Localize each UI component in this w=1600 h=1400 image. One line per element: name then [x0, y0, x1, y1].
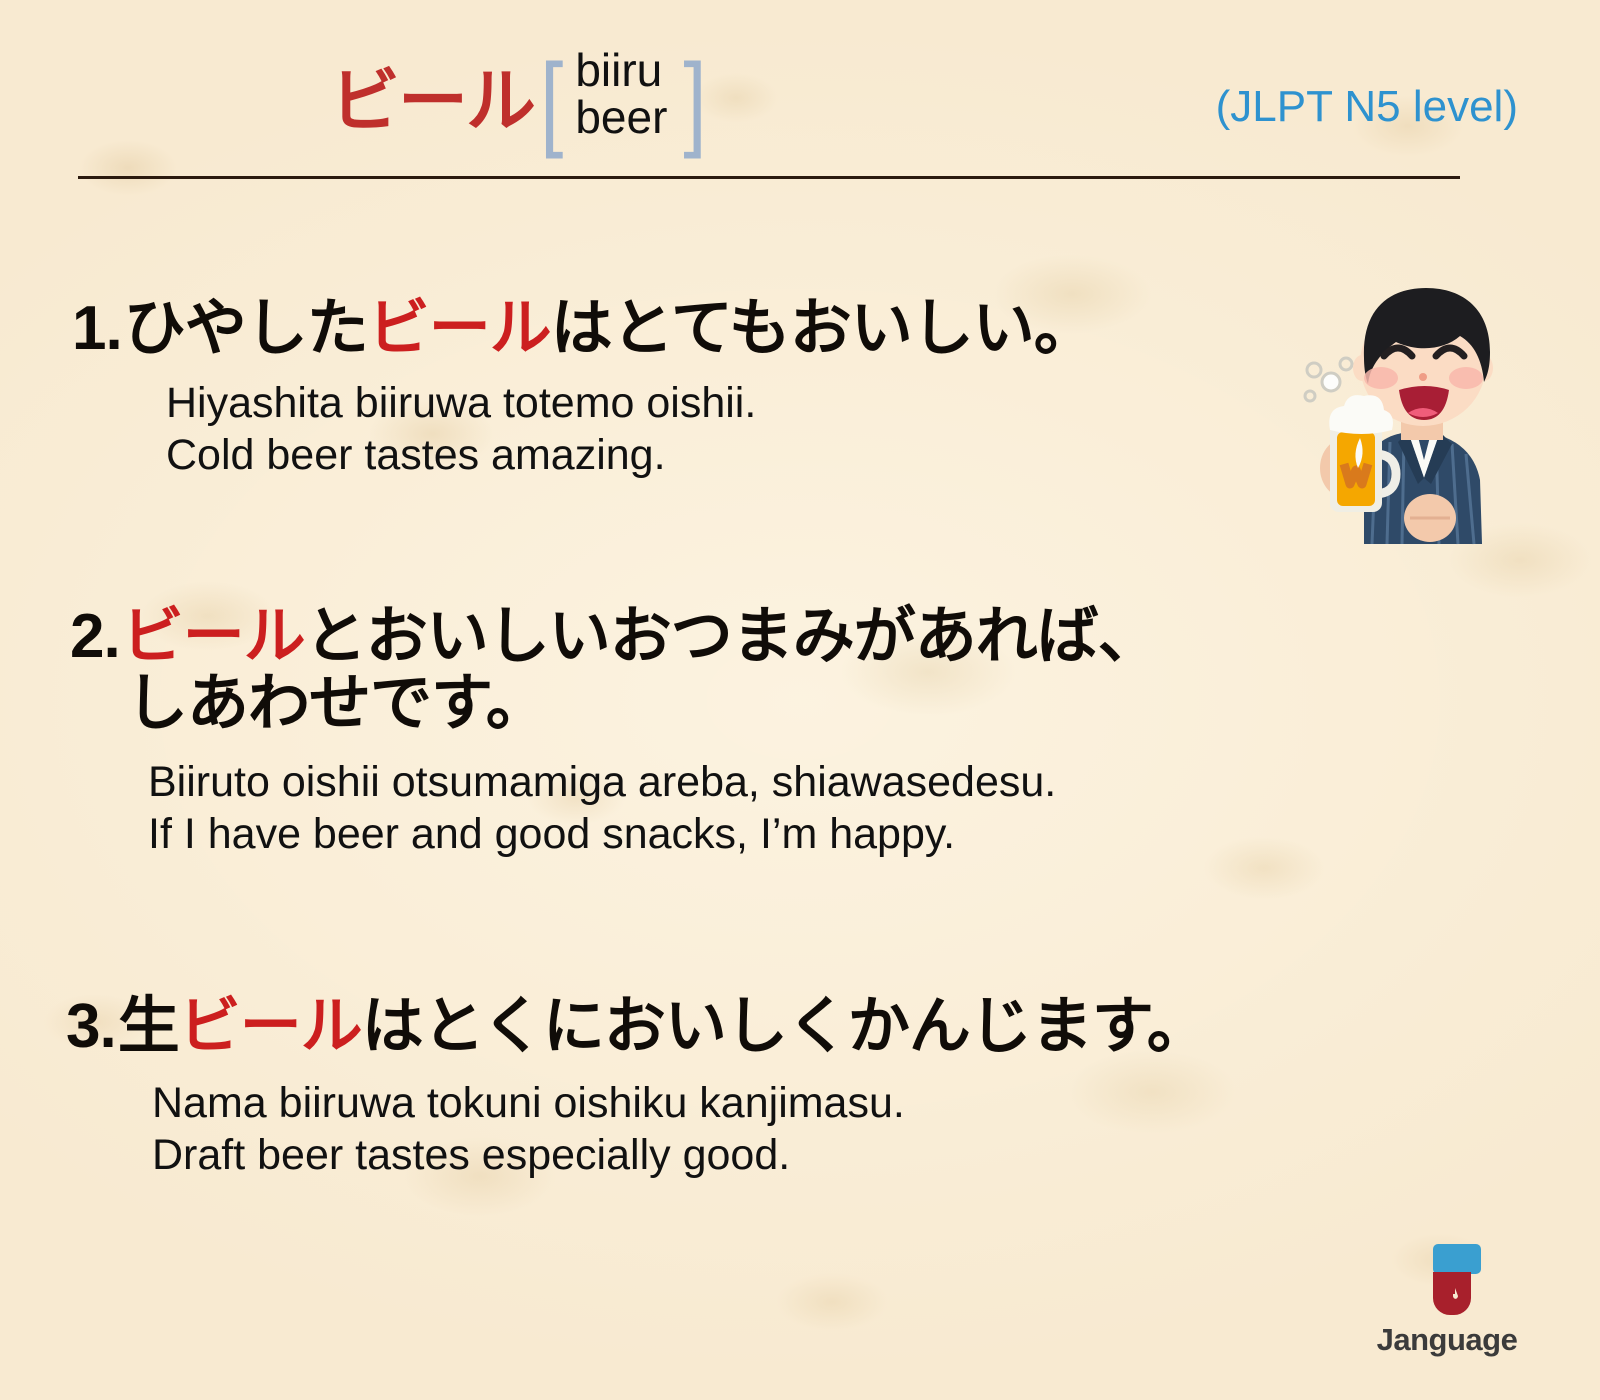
- example-2-english: If I have beer and good snacks, I’m happ…: [148, 808, 1600, 860]
- example-1-jp-after: はとてもおいしい。: [551, 294, 1095, 363]
- flashcard-page: ビール [ biiru beer ] (JLPT N5 level) 1.ひやし…: [0, 0, 1600, 1400]
- example-2-romaji: Biiruto oishii otsumamiga areba, shiawas…: [148, 756, 1600, 808]
- page-title: ビール: [330, 52, 534, 136]
- headword-romaji: biiru: [575, 47, 667, 94]
- example-1-jp-before: ひやした: [124, 294, 368, 363]
- example-2-gloss: Biiruto oishii otsumamiga areba, shiawas…: [0, 756, 1600, 861]
- card-header: ビール [ biiru beer ] (JLPT N5 level): [0, 46, 1600, 166]
- example-3-english: Draft beer tastes especially good.: [152, 1129, 1600, 1181]
- headword-meaning: beer: [575, 94, 667, 141]
- example-2-number: 2.: [70, 602, 120, 671]
- reading-stack: biiru beer: [565, 47, 677, 141]
- example-2-jp-after: とおいしいおつまみがあれば、: [305, 602, 1159, 671]
- example-3-romaji: Nama biiruwa tokuni oishiku kanjimasu.: [152, 1077, 1600, 1129]
- jlpt-level-badge: (JLPT N5 level): [1216, 82, 1518, 132]
- beer-man-illustration: [1268, 272, 1532, 548]
- bracket-left-icon: [: [540, 48, 563, 153]
- mug-emblem: [1344, 464, 1368, 484]
- header-divider: [78, 176, 1460, 179]
- nose: [1419, 373, 1427, 381]
- example-3-jp-before: 生: [118, 992, 179, 1061]
- logo-text: Janguage: [1352, 1322, 1542, 1358]
- headword-group: ビール [ biiru beer ]: [330, 46, 707, 142]
- example-3-gloss: Nama biiruwa tokuni oishiku kanjimasu. D…: [0, 1077, 1600, 1182]
- example-1-jp-highlight: ビール: [368, 294, 551, 363]
- janguage-logo-mark: [1352, 1238, 1542, 1318]
- example-3-jp-after: はとくにおいしくかんじます。: [362, 992, 1208, 1061]
- bracket-right-icon: ]: [683, 48, 706, 153]
- example-3-japanese: 3.生ビールはとくにおいしくかんじます。: [0, 994, 1600, 1061]
- example-3-number: 3.: [66, 992, 116, 1061]
- example-2-jp-highlight: ビール: [122, 602, 305, 671]
- letter-j-stem: [1433, 1272, 1455, 1294]
- example-sentence-3: 3.生ビールはとくにおいしくかんじます。 Nama biiruwa tokuni…: [0, 994, 1600, 1182]
- bubble-icon-large: [1322, 373, 1340, 391]
- example-sentence-2: 2.ビールとおいしいおつまみがあれば、 しあわせです。 Biiruto oish…: [0, 604, 1600, 861]
- example-1-number: 1.: [72, 294, 122, 363]
- blush-left: [1364, 367, 1398, 389]
- example-2-japanese-line-2: しあわせです。: [0, 671, 1600, 738]
- janguage-logo: Janguage: [1352, 1238, 1542, 1358]
- beer-mug-icon: [1329, 395, 1396, 512]
- example-3-jp-highlight: ビール: [179, 992, 362, 1061]
- example-2-japanese-line-1: 2.ビールとおいしいおつまみがあれば、: [0, 604, 1600, 671]
- blush-right: [1449, 367, 1483, 389]
